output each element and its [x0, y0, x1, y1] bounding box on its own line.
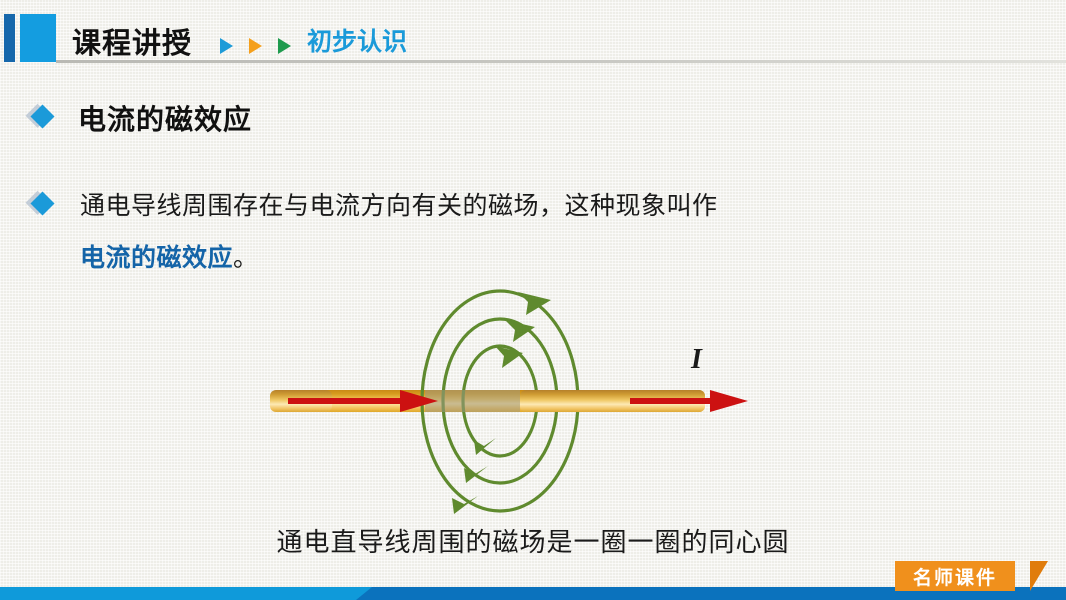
body-text-line-1: 通电导线周围存在与电流方向有关的磁场，这种现象叫作 [80, 186, 718, 222]
header-title: 课程讲授 [72, 20, 192, 62]
header-subtitle: 初步认识 [307, 22, 407, 58]
magnetic-field-diagram [270, 280, 770, 520]
triangle-blue-icon [220, 38, 233, 54]
triangle-green-icon [278, 38, 291, 54]
triangle-orange-icon [249, 38, 262, 54]
header-accent-bar-light [20, 14, 56, 62]
current-arrow-shaft-left [288, 398, 408, 404]
current-label: I [691, 344, 702, 376]
slide-canvas: 课程讲授 初步认识 电流的磁效应 通电导线周围存在与电流方向有关的磁场，这种现象… [0, 0, 1066, 600]
figure-caption: 通电直导线周围的磁场是一圈一圈的同心圆 [0, 522, 1066, 559]
section-title: 电流的磁效应 [78, 98, 252, 138]
brand-badge: 名师课件 [895, 561, 1015, 591]
diamond-bullet-icon [30, 104, 54, 128]
body-text-line-2: 电流的磁效应。 [80, 238, 259, 274]
arrow-right-icon [710, 390, 748, 412]
body-period: 。 [233, 244, 259, 272]
badge-tail [1030, 561, 1048, 591]
field-arrowheads-bottom [452, 438, 496, 514]
diamond-bullet-icon [30, 191, 54, 215]
wire-shadow-band [425, 390, 520, 412]
brand-badge-label: 名师课件 [913, 563, 997, 590]
header-accent-bar-dark [4, 14, 15, 62]
highlighted-term: 电流的磁效应 [80, 244, 233, 272]
arrowhead-icon [495, 346, 523, 368]
magnetic-field-svg [270, 280, 770, 520]
header-divider [56, 60, 1066, 63]
